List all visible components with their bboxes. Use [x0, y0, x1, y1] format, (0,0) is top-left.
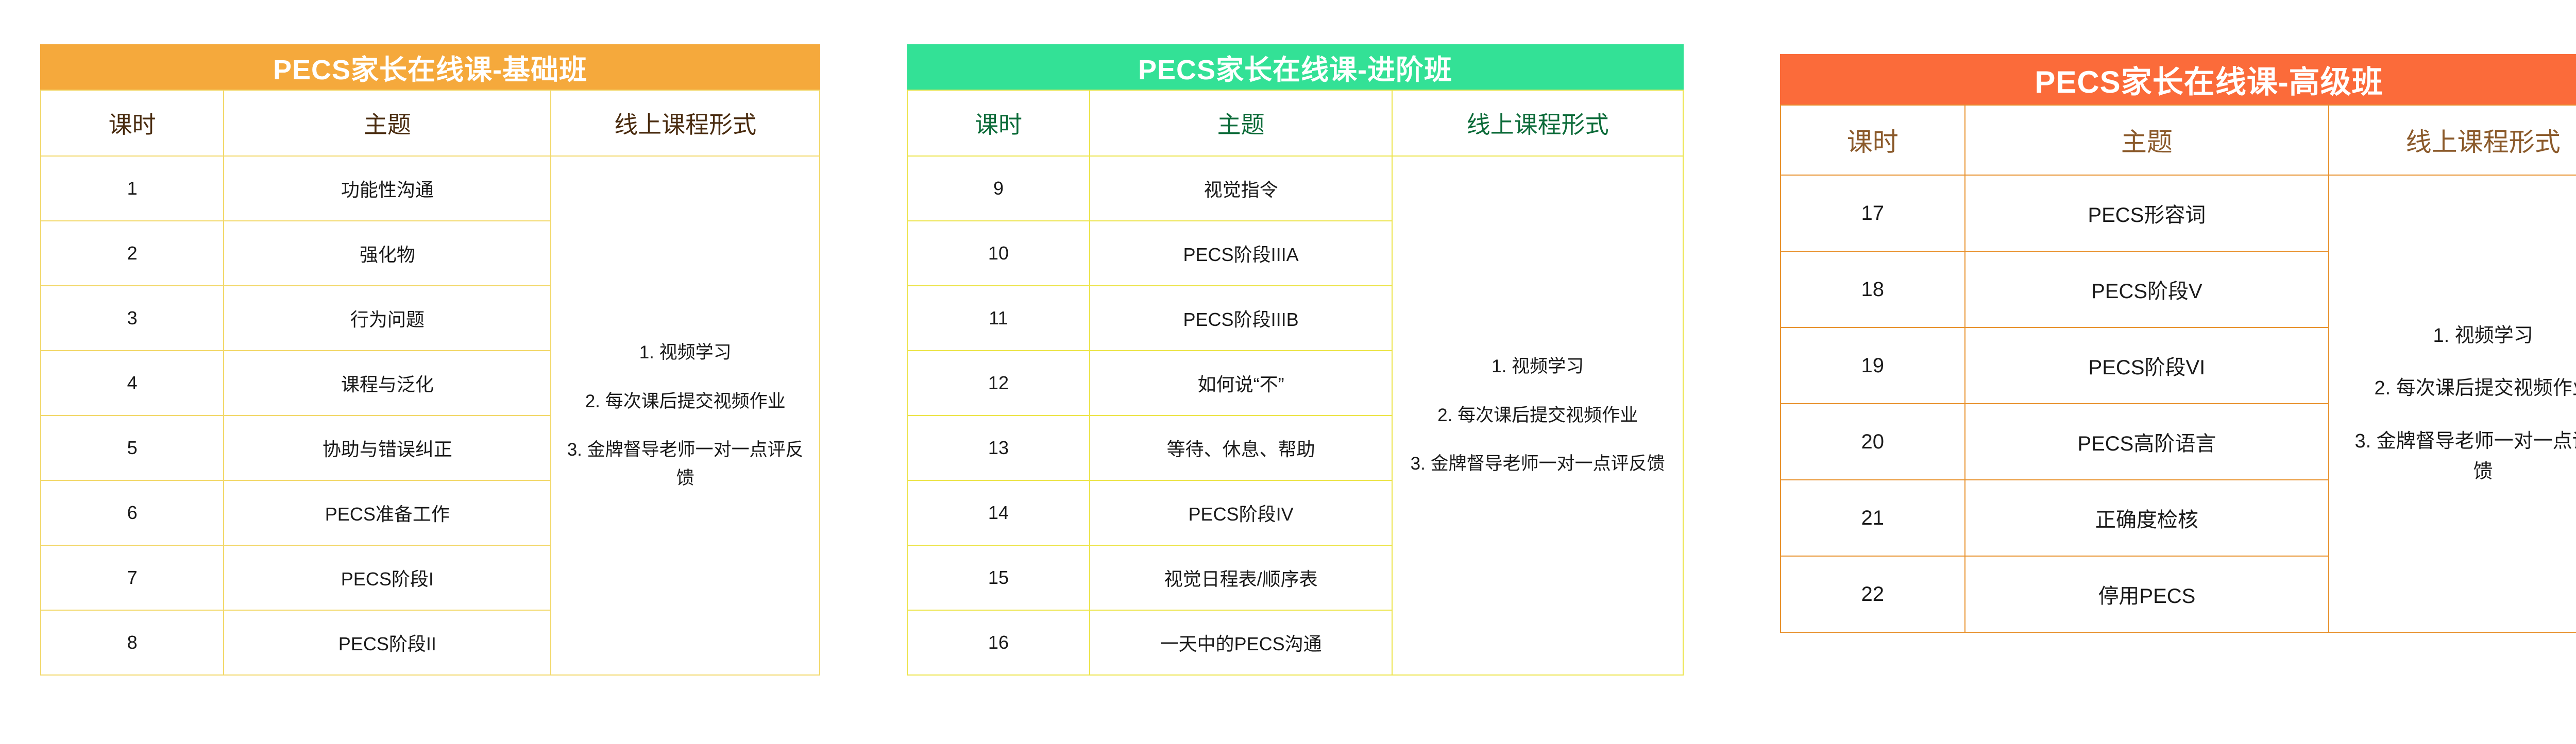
column-header-topic: 主题 [224, 90, 551, 156]
lesson-number: 2 [41, 221, 224, 286]
column-header-format: 线上课程形式 [551, 90, 820, 156]
lesson-number: 12 [907, 351, 1090, 416]
lesson-topic: PECS阶段IIIB [1090, 286, 1392, 351]
lesson-topic: 停用PECS [1965, 556, 2329, 632]
lesson-topic: PECS阶段II [224, 610, 551, 675]
lesson-number: 6 [41, 480, 224, 545]
format-item: 1. 视频学习 [1406, 353, 1669, 380]
format-item: 1. 视频学习 [565, 339, 806, 367]
lesson-topic: PECS阶段I [224, 545, 551, 610]
lesson-topic: 课程与泛化 [224, 351, 551, 416]
lesson-topic: 一天中的PECS沟通 [1090, 610, 1392, 675]
lesson-topic: 视觉指令 [1090, 156, 1392, 221]
course-table-advanced: 课时 主题 线上课程形式 9 视觉指令 1. 视频学习 2. 每次课后提交视频作… [907, 90, 1684, 676]
lesson-number: 13 [907, 416, 1090, 480]
card-title-basic: PECS家长在线课-基础班 [40, 44, 820, 90]
column-header-lesson: 课时 [1781, 105, 1965, 175]
lesson-topic: 视觉日程表/顺序表 [1090, 545, 1392, 610]
lesson-number: 7 [41, 545, 224, 610]
lesson-number: 10 [907, 221, 1090, 286]
format-item: 3. 金牌督导老师一对一点评反馈 [565, 436, 806, 492]
table-row: 9 视觉指令 1. 视频学习 2. 每次课后提交视频作业 3. 金牌督导老师一对… [907, 156, 1683, 221]
lesson-topic: 功能性沟通 [224, 156, 551, 221]
lesson-topic: PECS阶段V [1965, 251, 2329, 327]
lesson-topic: PECS形容词 [1965, 175, 2329, 251]
lesson-topic: PECS阶段IIIA [1090, 221, 1392, 286]
format-item: 3. 金牌督导老师一对一点评反馈 [1406, 450, 1669, 478]
lesson-number: 18 [1781, 251, 1965, 327]
lesson-topic: 行为问题 [224, 286, 551, 351]
format-item: 1. 视频学习 [2347, 321, 2576, 351]
column-header-lesson: 课时 [907, 90, 1090, 156]
format-item: 3. 金牌督导老师一对一点评反馈 [2347, 426, 2576, 487]
lesson-number: 19 [1781, 327, 1965, 404]
lesson-number: 8 [41, 610, 224, 675]
course-format-cell: 1. 视频学习 2. 每次课后提交视频作业 3. 金牌督导老师一对一点评反馈 [1392, 156, 1683, 675]
table-header-row: 课时 主题 线上课程形式 [41, 90, 820, 156]
lesson-topic: PECS阶段IV [1090, 480, 1392, 545]
lesson-number: 22 [1781, 556, 1965, 632]
lesson-topic: 正确度检核 [1965, 480, 2329, 556]
format-item: 2. 每次课后提交视频作业 [1406, 402, 1669, 429]
table-row: 1 功能性沟通 1. 视频学习 2. 每次课后提交视频作业 3. 金牌督导老师一… [41, 156, 820, 221]
lesson-number: 5 [41, 416, 224, 480]
lesson-topic: 强化物 [224, 221, 551, 286]
table-header-row: 课时 主题 线上课程形式 [907, 90, 1683, 156]
column-header-lesson: 课时 [41, 90, 224, 156]
course-format-cell: 1. 视频学习 2. 每次课后提交视频作业 3. 金牌督导老师一对一点评反馈 [2329, 175, 2576, 632]
lesson-number: 9 [907, 156, 1090, 221]
lesson-number: 21 [1781, 480, 1965, 556]
lesson-number: 16 [907, 610, 1090, 675]
table-row: 17 PECS形容词 1. 视频学习 2. 每次课后提交视频作业 3. 金牌督导… [1781, 175, 2576, 251]
lesson-topic: PECS高阶语言 [1965, 404, 2329, 480]
course-card-senior: PECS家长在线课-高级班 课时 主题 线上课程形式 17 PECS形容词 1.… [1780, 54, 2576, 633]
lesson-number: 3 [41, 286, 224, 351]
card-title-advanced: PECS家长在线课-进阶班 [907, 44, 1684, 90]
lesson-topic: PECS准备工作 [224, 480, 551, 545]
course-table-basic: 课时 主题 线上课程形式 1 功能性沟通 1. 视频学习 2. 每次课后提交视频… [40, 90, 820, 676]
lesson-number: 1 [41, 156, 224, 221]
lesson-topic: 如何说“不” [1090, 351, 1392, 416]
column-header-format: 线上课程形式 [1392, 90, 1683, 156]
lesson-number: 14 [907, 480, 1090, 545]
column-header-topic: 主题 [1965, 105, 2329, 175]
lesson-topic: 协助与错误纠正 [224, 416, 551, 480]
lesson-number: 17 [1781, 175, 1965, 251]
lesson-number: 15 [907, 545, 1090, 610]
course-card-basic: PECS家长在线课-基础班 课时 主题 线上课程形式 1 功能性沟通 1. 视频… [40, 44, 820, 676]
lesson-topic: PECS阶段VI [1965, 327, 2329, 404]
table-header-row: 课时 主题 线上课程形式 [1781, 105, 2576, 175]
lesson-topic: 等待、休息、帮助 [1090, 416, 1392, 480]
lesson-number: 11 [907, 286, 1090, 351]
course-card-advanced: PECS家长在线课-进阶班 课时 主题 线上课程形式 9 视觉指令 1. 视频学… [907, 44, 1684, 676]
course-table-senior: 课时 主题 线上课程形式 17 PECS形容词 1. 视频学习 2. 每次课后提… [1780, 105, 2576, 633]
format-item: 2. 每次课后提交视频作业 [565, 388, 806, 416]
column-header-format: 线上课程形式 [2329, 105, 2576, 175]
card-title-senior: PECS家长在线课-高级班 [1780, 54, 2576, 105]
course-format-cell: 1. 视频学习 2. 每次课后提交视频作业 3. 金牌督导老师一对一点评反馈 [551, 156, 820, 675]
lesson-number: 20 [1781, 404, 1965, 480]
lesson-number: 4 [41, 351, 224, 416]
column-header-topic: 主题 [1090, 90, 1392, 156]
format-item: 2. 每次课后提交视频作业 [2347, 373, 2576, 404]
